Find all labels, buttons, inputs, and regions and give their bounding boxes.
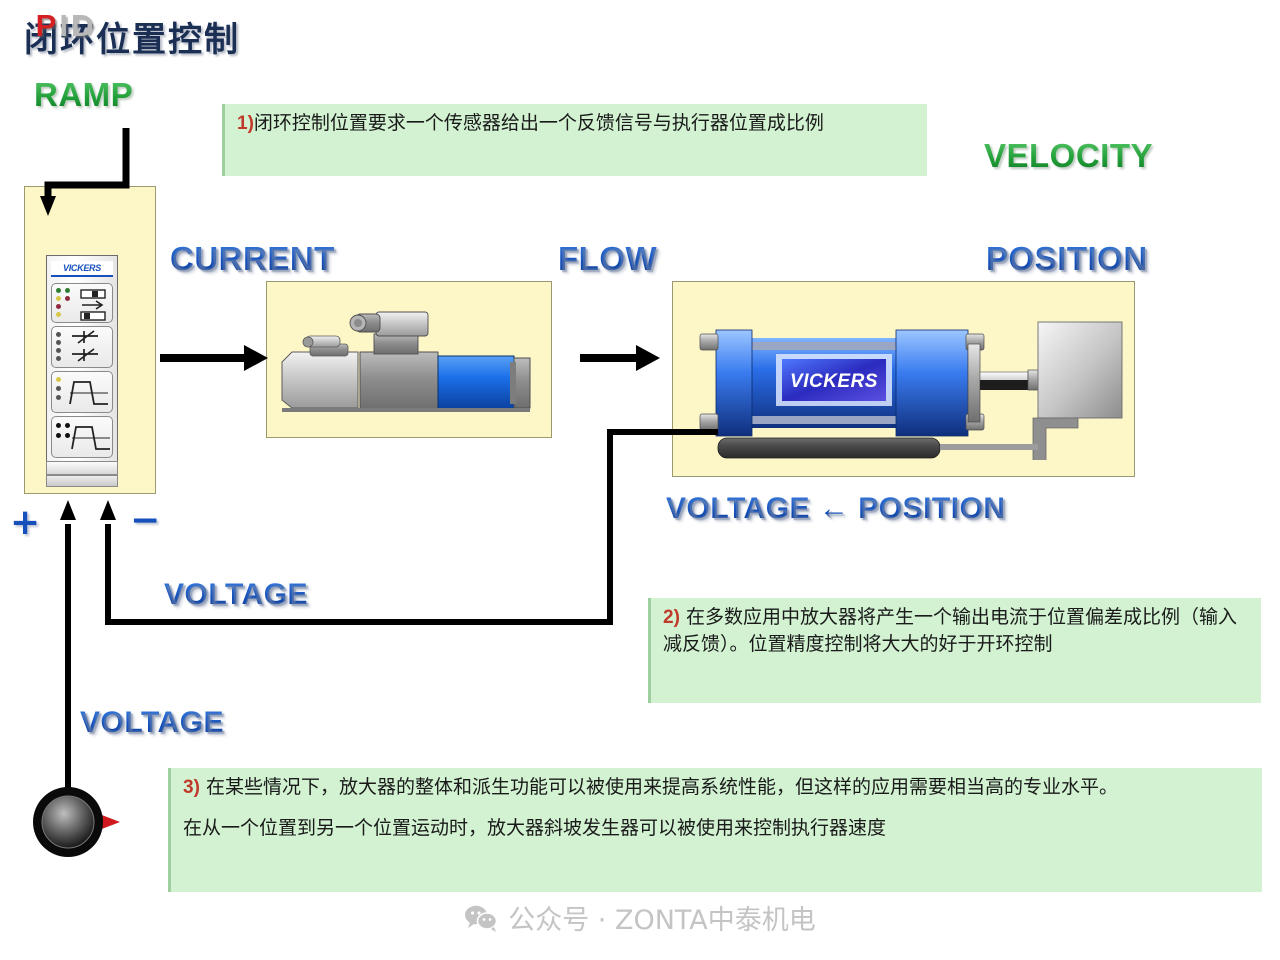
led-black-1 <box>56 423 61 428</box>
summing-minus-sign: − <box>130 500 160 541</box>
flow-arrow <box>580 345 660 371</box>
note-3-paragraph-1: 3) 在某些情况下，放大器的整体和派生功能可以被使用来提高系统性能，但这样的应用… <box>183 774 1252 801</box>
led-gray-3 <box>56 348 61 353</box>
note-3-paragraph-2: 在从一个位置到另一个位置运动时，放大器斜坡发生器可以被使用来控制执行器速度 <box>183 815 1252 841</box>
command-potentiometer-knob[interactable] <box>28 786 128 858</box>
pid-block-status <box>51 283 113 323</box>
signal-label-velocity: VELOCITY <box>984 137 1153 175</box>
pid-block-gain <box>51 326 113 368</box>
knob-icon[interactable] <box>28 786 128 858</box>
pid-status-symbols-icon <box>78 288 112 322</box>
pid-card-handle-lower <box>46 475 118 487</box>
led-gray-4 <box>56 356 61 361</box>
led-green-2 <box>65 288 70 293</box>
vickers-logo-amplifier-text: VICKERS <box>63 263 101 273</box>
pid-letters-id: ID <box>59 8 96 43</box>
led-gray-5 <box>56 386 61 391</box>
svg-text:VICKERS: VICKERS <box>790 371 878 392</box>
pid-waveform-icon-2 <box>70 421 114 455</box>
signal-label-ramp: RAMP <box>34 76 133 114</box>
hydraulic-cylinder-image: VICKERS <box>678 300 1133 460</box>
note-box-1: 1)闭环控制位置要求一个传感器给出一个反馈信号与执行器位置成比例 <box>222 104 927 176</box>
pid-block-profile <box>51 416 113 458</box>
led-gray-1 <box>56 332 61 337</box>
note-2-number: 2) <box>663 607 680 628</box>
led-yellow-3 <box>56 377 61 382</box>
signal-label-position: POSITION <box>986 240 1148 278</box>
pid-block-ramp <box>51 371 113 413</box>
note-box-2: 2) 在多数应用中放大器将产生一个输出电流于位置偏差成比例（输入减反馈）。位置精… <box>648 598 1261 703</box>
wechat-icon <box>464 904 498 932</box>
led-green-1 <box>56 288 61 293</box>
pid-gain-adjust-icon <box>68 330 112 366</box>
proportional-valve-image <box>276 300 544 428</box>
led-black-3 <box>56 433 61 438</box>
signal-label-voltage-command: VOLTAGE <box>80 706 224 740</box>
led-red-2 <box>56 304 61 309</box>
command-wire <box>60 500 76 800</box>
signal-label-voltage-feedback: VOLTAGE <box>164 578 308 612</box>
pid-label: PID <box>0 8 132 44</box>
footer-watermark: 公众号 · ZONTA中泰机电 <box>0 898 1280 937</box>
pid-letter-p: P <box>36 8 60 43</box>
note-1-paragraph-1: 1)闭环控制位置要求一个传感器给出一个反馈信号与执行器位置成比例 <box>237 110 917 137</box>
vickers-logo-amplifier: VICKERS <box>51 261 113 277</box>
note-1-number: 1) <box>237 113 254 134</box>
note-3-number: 3) <box>183 777 200 798</box>
signal-label-voltage-position: VOLTAGE ← POSITION <box>666 492 1006 526</box>
pid-card-handle-upper <box>46 461 118 475</box>
summing-plus-sign: + <box>10 502 40 543</box>
led-yellow-2 <box>56 312 61 317</box>
footer-watermark-text: 公众号 · ZONTA中泰机电 <box>508 898 816 937</box>
led-red-1 <box>65 296 70 301</box>
current-flow-arrow <box>160 345 268 371</box>
pid-waveform-icon-1 <box>68 376 112 410</box>
note-box-3: 3) 在某些情况下，放大器的整体和派生功能可以被使用来提高系统性能，但这样的应用… <box>168 768 1262 892</box>
led-gray-6 <box>56 395 61 400</box>
signal-label-current: CURRENT <box>170 240 335 278</box>
led-gray-2 <box>56 340 61 345</box>
led-yellow-1 <box>56 296 61 301</box>
note-2-paragraph-1: 2) 在多数应用中放大器将产生一个输出电流于位置偏差成比例（输入减反馈）。位置精… <box>663 604 1251 657</box>
signal-label-flow: FLOW <box>558 240 657 278</box>
